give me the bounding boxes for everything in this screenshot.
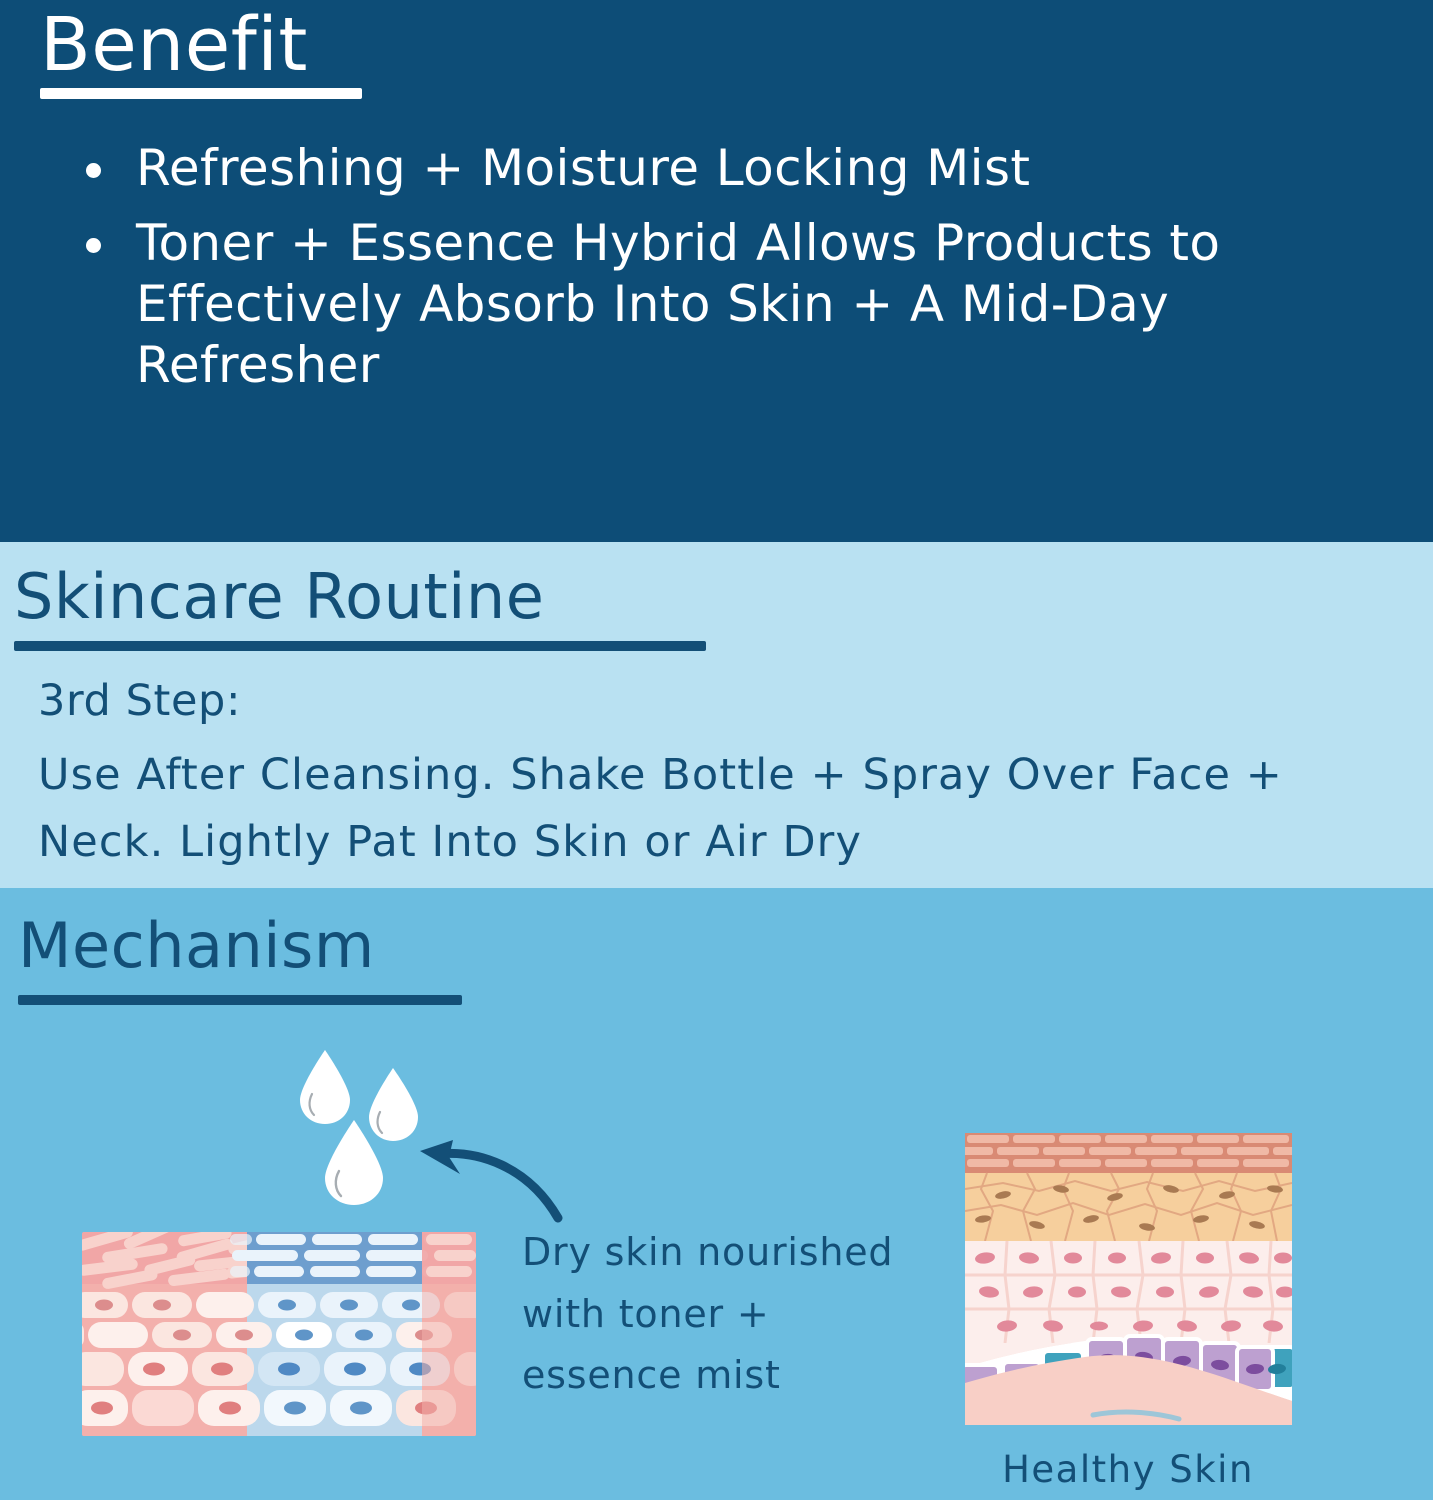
mechanism-heading: Mechanism [18,915,375,977]
benefit-bullet-item: Toner + Essence Hybrid Allows Products t… [72,213,1372,396]
water-droplet-icon [300,1050,350,1124]
healthy-skin-cross-section [965,1133,1292,1425]
annotation-line: with toner + [522,1284,942,1346]
water-droplet-icon [369,1068,418,1141]
benefit-bullet-item: Refreshing + Moisture Locking Mist [72,138,1372,199]
routine-step-label: 3rd Step: [38,676,241,726]
healthy-skin-caption: Healthy Skin [963,1448,1293,1491]
benefit-heading: Benefit [40,8,308,82]
skincare-routine-heading-underline [14,641,706,651]
skincare-routine-heading: Skincare Routine [14,566,544,628]
benefit-bullet-text: Refreshing + Moisture Locking Mist [136,139,1030,197]
bullet-dot-icon [86,238,101,253]
benefit-bullet-list: Refreshing + Moisture Locking Mist Toner… [72,138,1372,410]
routine-instruction-line: Neck. Lightly Pat Into Skin or Air Dry [38,809,1433,876]
infographic-page: Benefit Refreshing + Moisture Locking Mi… [0,0,1433,1500]
annotation-line: Dry skin nourished [522,1222,942,1284]
mechanism-annotation-text: Dry skin nourished with toner + essence … [522,1222,942,1407]
bullet-dot-icon [86,163,101,178]
routine-instruction-line: Use After Cleansing. Shake Bottle + Spra… [38,742,1433,809]
benefit-bullet-text: Toner + Essence Hybrid Allows Products t… [136,214,1220,394]
water-droplet-icon [325,1120,383,1205]
routine-instructions: Use After Cleansing. Shake Bottle + Spra… [38,742,1433,875]
mechanism-heading-underline [18,995,462,1005]
annotation-line: essence mist [522,1345,942,1407]
benefit-heading-underline [40,88,362,99]
dry-skin-cross-section [82,1232,476,1436]
